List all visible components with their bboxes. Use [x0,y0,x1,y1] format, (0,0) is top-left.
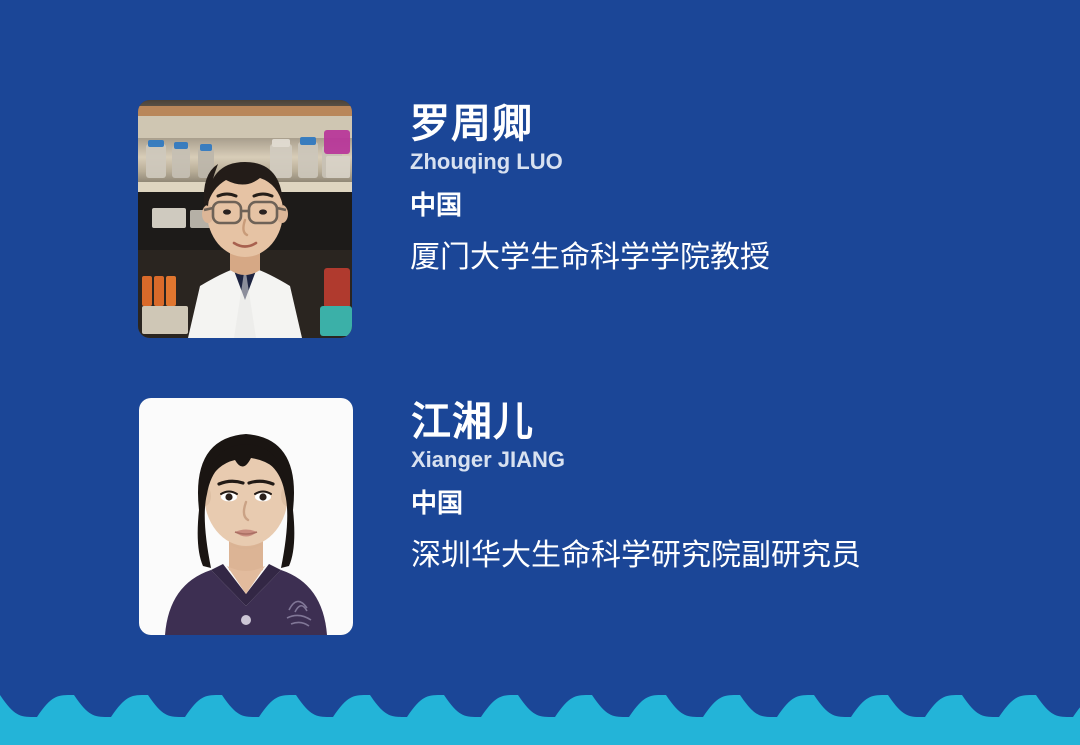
speaker-photo [139,398,353,635]
scalloped-wave-band [0,680,1080,745]
speaker-name-cn: 江湘儿 [411,400,861,445]
speaker-name-cn: 罗周卿 [410,102,770,147]
speaker-photo [138,100,352,338]
speaker-card: 罗周卿 Zhouqing LUO 中国 厦门大学生命科学学院教授 [0,100,1080,338]
speaker-name-en: Zhouqing LUO [410,148,770,176]
speaker-affiliation: 深圳华大生命科学研究院副研究员 [411,538,861,574]
speaker-name-en: Xianger JIANG [411,446,861,474]
speaker-country: 中国 [411,488,861,519]
speaker-affiliation: 厦门大学生命科学学院教授 [410,240,770,276]
speaker-info: 江湘儿 Xianger JIANG 中国 深圳华大生命科学研究院副研究员 [411,398,861,574]
speaker-info: 罗周卿 Zhouqing LUO 中国 厦门大学生命科学学院教授 [410,100,770,276]
speaker-poster: 罗周卿 Zhouqing LUO 中国 厦门大学生命科学学院教授 [0,0,1080,745]
speaker-card: 江湘儿 Xianger JIANG 中国 深圳华大生命科学研究院副研究员 [0,398,1080,635]
speaker-country: 中国 [410,190,770,221]
